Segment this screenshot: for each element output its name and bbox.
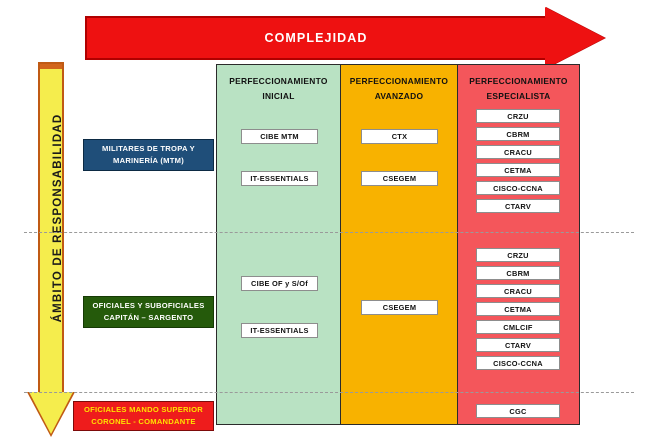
- course-box[interactable]: CBRM: [476, 266, 560, 280]
- column-perfeccionamiento-inicial: PERFECCIONAMIENTO INICIAL CIBE MTM IT-ES…: [217, 65, 341, 424]
- course-box[interactable]: CRZU: [476, 248, 560, 262]
- course-box[interactable]: CTARV: [476, 338, 560, 352]
- column-perfeccionamiento-avanzado: PERFECCIONAMIENTO AVANZADO CTX CSEGEM CS…: [341, 65, 458, 424]
- course-box[interactable]: CRACU: [476, 145, 560, 159]
- column-inicial-header: PERFECCIONAMIENTO INICIAL: [217, 74, 340, 103]
- course-box[interactable]: CETMA: [476, 163, 560, 177]
- column-inicial-header-line1: PERFECCIONAMIENTO: [217, 74, 340, 89]
- role-box-oficiales: OFICIALES Y SUBOFICIALES CAPITÁN – SARGE…: [83, 296, 214, 328]
- column-inicial-header-line2: INICIAL: [217, 89, 340, 104]
- course-box[interactable]: CISCO-CCNA: [476, 181, 560, 195]
- course-box[interactable]: IT-ESSENTIALS: [241, 323, 318, 338]
- course-box[interactable]: CRZU: [476, 109, 560, 123]
- role-oficiales-line1: OFICIALES Y SUBOFICIALES: [92, 300, 204, 312]
- complexity-arrow-head-icon: [545, 7, 605, 69]
- course-box[interactable]: CBRM: [476, 127, 560, 141]
- role-oficiales-line2: CAPITÁN – SARGENTO: [104, 312, 194, 324]
- course-box[interactable]: CSEGEM: [361, 300, 438, 315]
- band-separator-top: [24, 232, 634, 233]
- column-avanzado-header-line2: AVANZADO: [341, 89, 457, 104]
- role-box-mando-superior: OFICIALES MANDO SUPERIOR CORONEL - COMAN…: [73, 401, 214, 431]
- responsibility-arrow: ÁMBITO DE RESPONSABILIDAD: [38, 62, 64, 436]
- course-box[interactable]: CTX: [361, 129, 438, 144]
- course-box[interactable]: CIBE MTM: [241, 129, 318, 144]
- responsibility-arrow-head-icon: [29, 392, 73, 434]
- course-box[interactable]: IT-ESSENTIALS: [241, 171, 318, 186]
- course-box[interactable]: CMLCIF: [476, 320, 560, 334]
- column-especialista-header-line2: ESPECIALISTA: [458, 89, 579, 104]
- training-columns: PERFECCIONAMIENTO INICIAL CIBE MTM IT-ES…: [216, 64, 580, 425]
- diagram-canvas: COMPLEJIDAD ÁMBITO DE RESPONSABILIDAD MI…: [0, 0, 650, 440]
- complexity-arrow-label: COMPLEJIDAD: [85, 16, 547, 60]
- course-box[interactable]: CTARV: [476, 199, 560, 213]
- column-especialista-header: PERFECCIONAMIENTO ESPECIALISTA: [458, 74, 579, 103]
- column-avanzado-header-line1: PERFECCIONAMIENTO: [341, 74, 457, 89]
- column-perfeccionamiento-especialista: PERFECCIONAMIENTO ESPECIALISTA CRZU CBRM…: [458, 65, 579, 424]
- role-mando-superior-line2: CORONEL - COMANDANTE: [91, 416, 195, 428]
- course-box[interactable]: CSEGEM: [361, 171, 438, 186]
- band-separator-bottom: [24, 392, 634, 393]
- course-box[interactable]: CIBE OF y S/Of: [241, 276, 318, 291]
- role-box-mtm: MILITARES DE TROPA Y MARINERÍA (MTM): [83, 139, 214, 171]
- role-mando-superior-line1: OFICIALES MANDO SUPERIOR: [84, 404, 203, 416]
- role-mtm-line1: MILITARES DE TROPA Y: [102, 143, 195, 155]
- course-box[interactable]: CETMA: [476, 302, 560, 316]
- column-especialista-header-line1: PERFECCIONAMIENTO: [458, 74, 579, 89]
- course-box[interactable]: CGC: [476, 404, 560, 418]
- responsibility-arrow-label: ÁMBITO DE RESPONSABILIDAD: [52, 58, 64, 378]
- complexity-arrow: COMPLEJIDAD: [85, 16, 607, 60]
- role-mtm-line2: MARINERÍA (MTM): [113, 155, 184, 167]
- course-box[interactable]: CISCO-CCNA: [476, 356, 560, 370]
- course-box[interactable]: CRACU: [476, 284, 560, 298]
- column-avanzado-header: PERFECCIONAMIENTO AVANZADO: [341, 74, 457, 103]
